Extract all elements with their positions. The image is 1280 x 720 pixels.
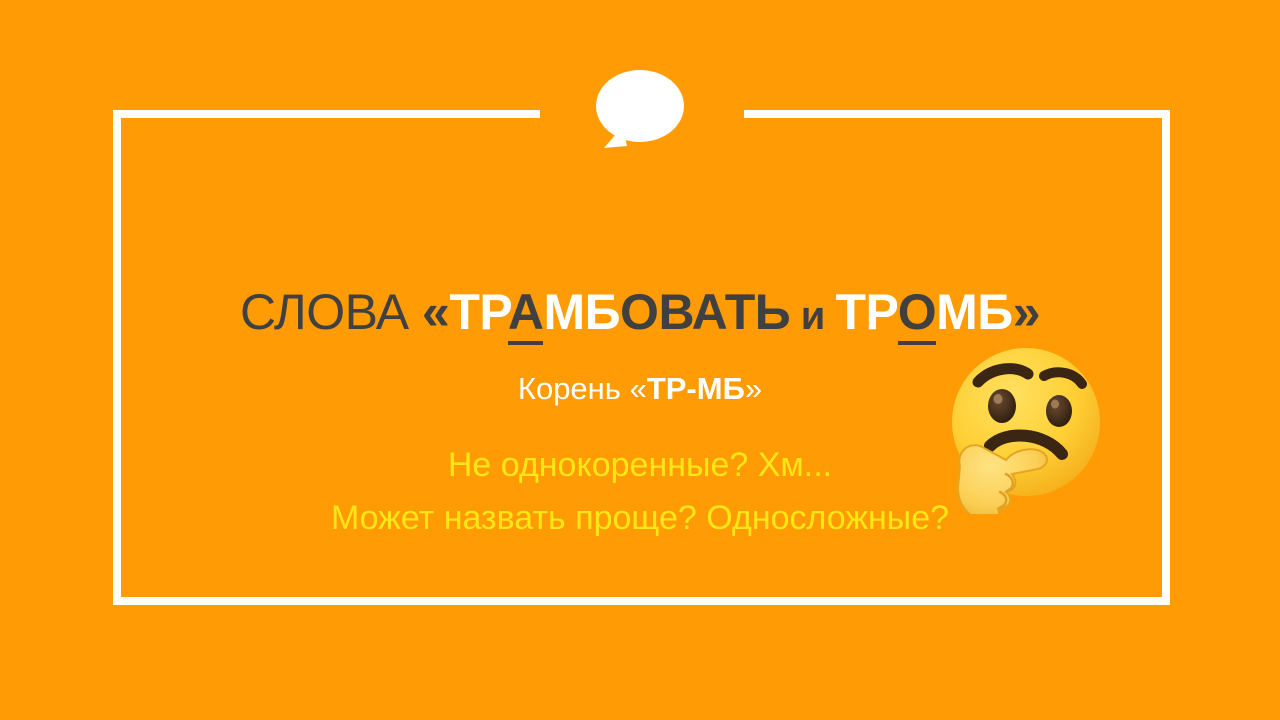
title-word1-part3: О — [620, 284, 658, 340]
title-close-quote: » — [1013, 284, 1040, 340]
title-word1-part2: МБ — [543, 284, 620, 340]
title-lead: СЛОВА — [240, 284, 422, 340]
frame-bottom-segment — [113, 597, 1170, 605]
slide-canvas: СЛОВА «ТРАМБОВАТЬ и ТРОМБ» Корень «ТР-МБ… — [0, 0, 1280, 720]
title-word1-part1: ТР — [449, 284, 508, 340]
frame-top-left-segment — [113, 110, 540, 118]
frame-left-segment — [113, 110, 121, 605]
title-word2-part1: ТР — [836, 284, 898, 340]
subtitle-open-quote: « — [630, 371, 647, 406]
frame-right-segment — [1162, 110, 1170, 605]
frame-top-right-segment — [744, 110, 1170, 118]
title-open-quote: « — [422, 284, 449, 340]
title-word2-part2: МБ — [936, 284, 1013, 340]
subtitle-close-quote: » — [745, 371, 762, 406]
title-word2-stress: О — [898, 284, 936, 345]
slide-title: СЛОВА «ТРАМБОВАТЬ и ТРОМБ» — [0, 283, 1280, 345]
speech-bubble-icon — [590, 68, 686, 150]
thinking-face-emoji — [940, 338, 1112, 514]
subtitle-root: ТР-МБ — [647, 371, 745, 406]
subtitle-lead: Корень — [518, 371, 630, 406]
title-word1-stress: А — [508, 284, 544, 345]
title-word1-part4: ВАТЬ — [658, 284, 790, 340]
title-conjunction: и — [790, 294, 835, 338]
